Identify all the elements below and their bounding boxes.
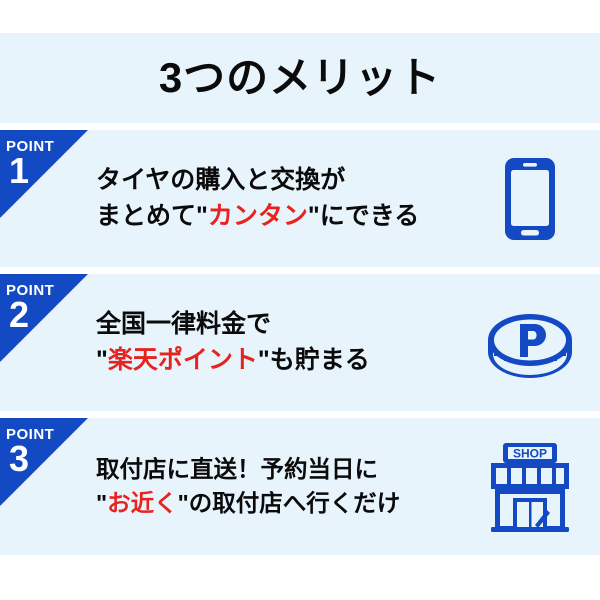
point-line2-highlight-3: お近く	[107, 490, 178, 516]
header-banner: 3つのメリット	[0, 33, 600, 123]
point-badge-number-2: 2	[9, 297, 29, 333]
point-line2-pre-3: "	[96, 490, 107, 516]
point-row-3: POINT 3 取付店に直送！予約当日に "お近く"の取付店へ行くだけ SHOP	[0, 418, 600, 555]
point-badge-2: POINT 2	[0, 274, 90, 364]
point-line1-3: 取付店に直送！予約当日に	[96, 453, 452, 486]
point-text-3: 取付店に直送！予約当日に "お近く"の取付店へ行くだけ	[96, 453, 452, 520]
point-badge-label-1: POINT	[6, 139, 54, 154]
point-text-1: タイヤの購入と交換が まとめて"カンタン"にできる	[96, 163, 452, 234]
point-line1-1: タイヤの購入と交換が	[96, 163, 452, 199]
shop-storefront-icon: SHOP	[484, 441, 576, 533]
point-line2-post-3: "の取付店へ行くだけ	[178, 490, 401, 516]
panel-divider-1	[0, 123, 600, 130]
page-title: 3つのメリット	[159, 57, 441, 99]
point-row-1: POINT 1 タイヤの購入と交換が まとめて"カンタン"にできる	[0, 130, 600, 267]
point-line2-2: "楽天ポイント"も貯まる	[96, 343, 452, 379]
promo-graphic: 3つのメリット POINT 1 タイヤの購入と交換が まとめて"カンタン"にでき…	[0, 0, 600, 600]
point-coin-icon	[484, 297, 576, 389]
point-line2-highlight-2: 楽天ポイント	[108, 346, 258, 374]
point-line1-2: 全国一律料金で	[96, 307, 452, 343]
point-line2-pre-1: まとめて"	[96, 202, 208, 230]
point-line2-1: まとめて"カンタン"にできる	[96, 199, 452, 235]
point-row-2: POINT 2 全国一律料金で "楽天ポイント"も貯まる	[0, 274, 600, 411]
point-text-2: 全国一律料金で "楽天ポイント"も貯まる	[96, 307, 452, 378]
smartphone-icon	[484, 153, 576, 245]
point-line2-post-2: "も貯まる	[258, 346, 370, 374]
point-line2-3: "お近く"の取付店へ行くだけ	[96, 487, 452, 520]
shop-sign-text: SHOP	[513, 446, 547, 460]
point-badge-label-2: POINT	[6, 283, 54, 298]
point-badge-number-1: 1	[9, 153, 29, 189]
point-badge-1: POINT 1	[0, 130, 90, 220]
panel-divider-2	[0, 267, 600, 274]
point-badge-label-3: POINT	[6, 427, 54, 442]
point-line2-highlight-1: カンタン	[208, 202, 308, 230]
point-line2-pre-2: "	[96, 346, 108, 374]
panel-divider-3	[0, 411, 600, 418]
point-line2-post-1: "にできる	[308, 202, 419, 230]
point-badge-number-3: 3	[9, 441, 29, 477]
point-badge-3: POINT 3	[0, 418, 90, 508]
